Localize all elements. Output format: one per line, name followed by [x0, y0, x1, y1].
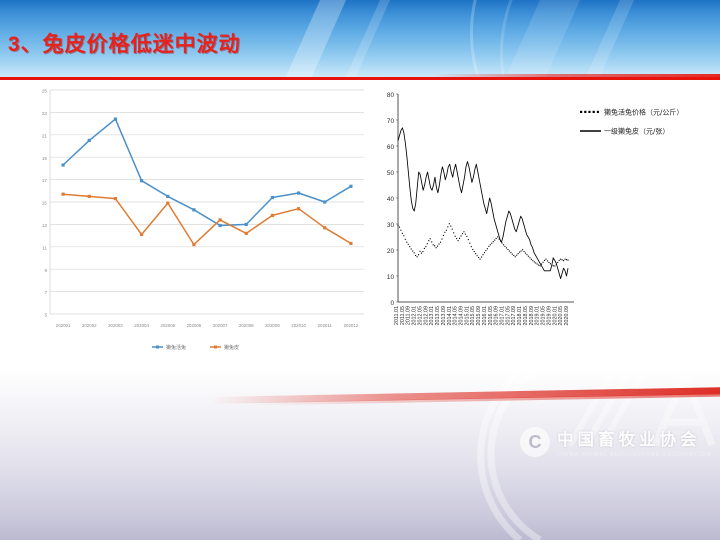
svg-text:40: 40	[387, 196, 395, 203]
svg-text:獭兔皮: 獭兔皮	[224, 344, 239, 351]
svg-text:202010: 202010	[291, 323, 306, 328]
svg-text:獭兔活兔: 獭兔活兔	[166, 344, 186, 351]
svg-text:9: 9	[44, 268, 47, 273]
svg-text:202002: 202002	[82, 323, 97, 328]
svg-text:0: 0	[390, 300, 394, 307]
logo-mark-icon: C	[520, 427, 550, 457]
svg-text:7: 7	[44, 290, 47, 295]
svg-text:202003: 202003	[108, 323, 123, 328]
svg-text:20: 20	[387, 248, 395, 255]
svg-text:一级獭兔皮（元/张）: 一级獭兔皮（元/张）	[604, 127, 669, 136]
svg-text:60: 60	[387, 144, 395, 151]
logo-text-cn: 中国畜牧业协会	[557, 426, 711, 450]
svg-text:202008: 202008	[239, 323, 254, 328]
page-title: 3、兔皮价格低迷中波动	[8, 28, 241, 58]
svg-text:202009: 202009	[265, 323, 280, 328]
association-logo: C 中国畜牧业协会 CHINA ANIMAL AGRICULTURE ASSOC…	[520, 426, 711, 458]
header-red-bar	[0, 77, 720, 80]
svg-text:23: 23	[42, 111, 48, 116]
svg-text:15: 15	[42, 201, 48, 206]
svg-text:202011: 202011	[318, 323, 333, 328]
svg-text:10: 10	[387, 274, 395, 281]
slide-footer: C 中国畜牧业协会 CHINA ANIMAL AGRICULTURE ASSOC…	[0, 370, 720, 540]
chart-right-longterm: 010203040506070802011.012011.052011.0920…	[372, 84, 712, 364]
svg-text:5: 5	[44, 313, 47, 318]
slide-header: 3、兔皮价格低迷中波动	[0, 0, 720, 80]
svg-text:17: 17	[42, 178, 48, 183]
svg-text:202012: 202012	[344, 323, 359, 328]
svg-text:202007: 202007	[213, 323, 228, 328]
svg-text:2020.09: 2020.09	[564, 306, 570, 326]
svg-text:50: 50	[387, 170, 395, 177]
svg-text:21: 21	[42, 133, 48, 138]
header-arc-2	[500, 0, 720, 80]
svg-text:202006: 202006	[187, 323, 202, 328]
svg-text:202004: 202004	[134, 323, 149, 328]
chart-left-monthly-2020: 2523211917151311975202001202002202003202…	[24, 82, 370, 364]
chart-left-svg: 2523211917151311975202001202002202003202…	[24, 82, 370, 364]
svg-text:70: 70	[387, 118, 395, 125]
svg-text:30: 30	[387, 222, 395, 229]
svg-text:獭兔活兔价格（元/公斤）: 獭兔活兔价格（元/公斤）	[604, 108, 683, 117]
chart-right-svg: 010203040506070802011.012011.052011.0920…	[372, 84, 712, 364]
svg-text:19: 19	[42, 156, 48, 161]
svg-text:202001: 202001	[56, 323, 71, 328]
svg-text:202005: 202005	[160, 323, 175, 328]
svg-text:25: 25	[42, 89, 48, 94]
svg-text:80: 80	[387, 92, 395, 99]
header-streak-1	[267, 0, 360, 80]
svg-text:13: 13	[42, 223, 48, 228]
logo-text-en: CHINA ANIMAL AGRICULTURE ASSOCIATION	[557, 452, 711, 458]
svg-text:11: 11	[42, 245, 47, 250]
